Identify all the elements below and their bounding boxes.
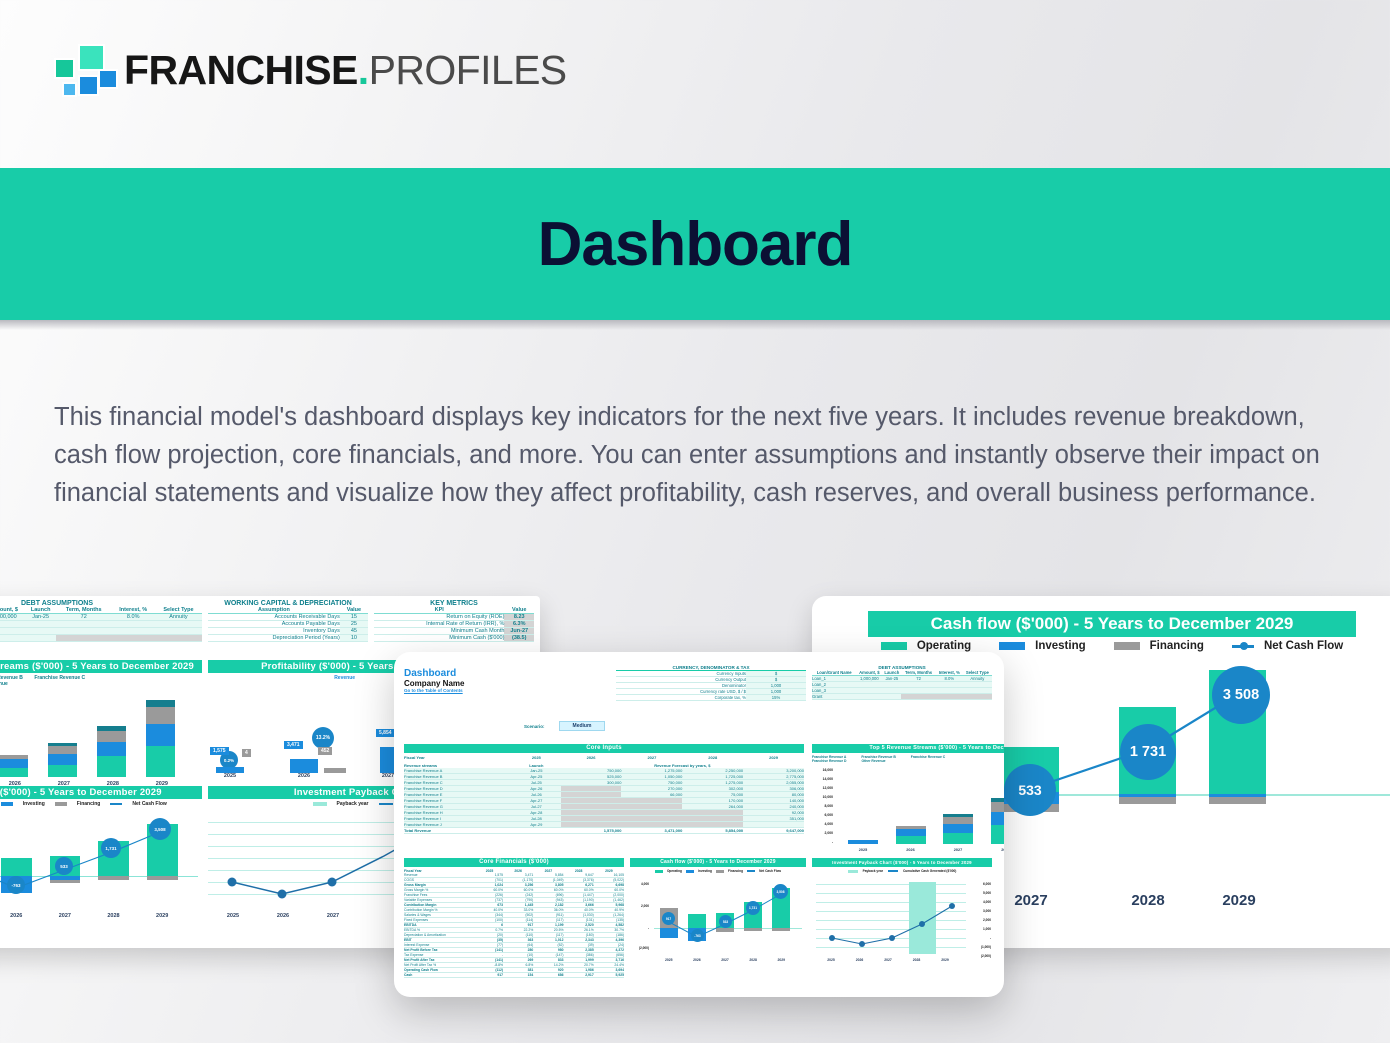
center-working-capital[interactable]: WORKING CAPITAL & DEPRECIATION [998, 665, 1004, 670]
center-toc-link[interactable]: Go to the Table of Contents [404, 688, 464, 693]
brand-name-dot: . [358, 47, 369, 93]
debt-assumptions-title: DEBT ASSUMPTIONS [0, 600, 202, 607]
center-top5-legend: Franchise Revenue A Franchise Revenue B … [812, 755, 1004, 763]
brand-name-light: PROFILES [369, 47, 567, 93]
title-banner: Dashboard [0, 168, 1390, 320]
core-financials-title: Core Financials ($'000) [404, 858, 624, 867]
table-row[interactable]: Grant [812, 694, 992, 700]
table-row-total: Total Revenue 1,575,000 3,471,000 5,854,… [404, 828, 804, 834]
center-title: Dashboard [404, 668, 464, 679]
table-row[interactable]: Minimum Cash MonthJun-27 [374, 628, 534, 635]
banner-shadow [0, 320, 1390, 330]
table-row[interactable]: Depreciation Period (Years)10 [208, 635, 368, 642]
center-top5-plot: 16,000 14,000 12,000 10,000 8,000 6,000 … [812, 768, 1004, 856]
right-cashflow-legend: Operating Investing Financing Net Cash F… [868, 640, 1356, 652]
net-label-2027: 533 [1004, 764, 1056, 816]
center-debt-assumptions[interactable]: DEBT ASSUMPTIONS Loan/Grant Name Amount,… [812, 665, 992, 700]
table-row[interactable]: Return on Equity (ROE)8.23 [374, 614, 534, 621]
key-metrics-title: KEY METRICS [374, 600, 534, 607]
table-row[interactable]: Grant [0, 635, 202, 642]
table-row[interactable]: Accounts Payable Days25 [208, 621, 368, 628]
key-metrics-table[interactable]: KPIValue Return on Equity (ROE)8.23 Inte… [374, 607, 534, 642]
top5-revenue-chart-title: Top 5 Revenue Streams ($'000) - 5 Years … [0, 660, 202, 673]
scenario-label: Scenario: [524, 724, 545, 729]
table-row[interactable]: Loan_2 [0, 621, 202, 628]
net-label-2029: 3 508 [1212, 666, 1270, 724]
cashflow-plot: 4,000 3,000 2,000 1,000 - (1,000) (2,000… [0, 814, 202, 924]
center-payback-title: Investment Payback Chart ($'000) - 5 Yea… [812, 858, 992, 867]
table-row[interactable]: Loan_3 [0, 628, 202, 635]
core-inputs-title: Core Inputs [404, 744, 804, 753]
table-row[interactable]: Inventory Days45 [208, 628, 368, 635]
table-row[interactable]: Accounts Receivable Days15 [208, 614, 368, 621]
table-row[interactable]: Minimum Cash ($'000)(38.5) [374, 635, 534, 642]
brand-logo: FRANCHISE.PROFILES [54, 42, 567, 98]
center-payback-legend: Payback year Cumulative Cash Generated (… [812, 869, 992, 873]
center-top5-title: Top 5 Revenue Streams ($'000) - 5 Years … [812, 744, 1004, 753]
right-cashflow-title: Cash flow ($'000) - 5 Years to December … [868, 611, 1356, 637]
center-company-name: Company Name [404, 679, 464, 688]
center-currency-block[interactable]: CURRENCY, DENOMINATOR & TAX Currency Inp… [616, 665, 806, 701]
top5-legend: Franchise Revenue A Franchise Revenue B … [0, 675, 202, 687]
center-dashboard-header: Dashboard Company Name Go to the Table o… [404, 668, 464, 693]
debt-assumptions-table[interactable]: Loan/Grant Name Amount, $ Launch Term, M… [0, 607, 202, 642]
center-payback-plot: 6,000 5,000 4,000 3,000 2,000 1,000 - (1… [812, 880, 992, 966]
page-description: This financial model's dashboard display… [54, 398, 1339, 512]
net-label-2028: 1 731 [1120, 724, 1176, 780]
core-inputs-table[interactable]: Fiscal Year 2025 2026 2027 2028 2029 Rev… [404, 755, 804, 834]
brand-wordmark: FRANCHISE.PROFILES [124, 50, 567, 91]
screenshot-panel-center[interactable]: Dashboard Company Name Go to the Table o… [394, 652, 1004, 997]
center-cashflow-plot: 4,000 2,000 - (2,000) 917 -763 533 1,731… [630, 880, 806, 966]
working-capital-title: WORKING CAPITAL & DEPRECIATION [208, 600, 368, 607]
page-header: FRANCHISE.PROFILES [0, 0, 1390, 168]
center-cashflow-title: Cash flow ($'000) - 5 Years to December … [630, 858, 806, 867]
working-capital-table[interactable]: AssumptionValue Accounts Receivable Days… [208, 607, 368, 642]
cashflow-chart-title: Cash flow ($'000) - 5 Years to December … [0, 786, 202, 799]
logo-squares-icon [54, 42, 112, 98]
page-title: Dashboard [538, 209, 853, 280]
scenario-select[interactable]: Medium [559, 721, 605, 731]
cashflow-legend: Operating Investing Financing Net Cash F… [0, 801, 202, 807]
table-row[interactable]: Cash9171546862,9175,925 [404, 973, 624, 978]
core-financials-table[interactable]: Fiscal Year 2025 2026 2027 2028 2029 Rev… [404, 869, 624, 978]
table-row[interactable]: Loan_1 1,000,000 Jan-25 72 8.0% Annuity [0, 614, 202, 621]
table-row[interactable]: Corporate tax, %15% [616, 695, 806, 701]
top5-revenue-plot: 16,000 14,000 12,000 10,000 8,000 6,000 … [0, 689, 202, 781]
center-cashflow-legend: Operating Investing Financing Net Cash F… [630, 869, 806, 873]
brand-name-bold: FRANCHISE [124, 47, 358, 93]
table-row[interactable]: Internal Rate of Return (IRR), %6.3% [374, 621, 534, 628]
